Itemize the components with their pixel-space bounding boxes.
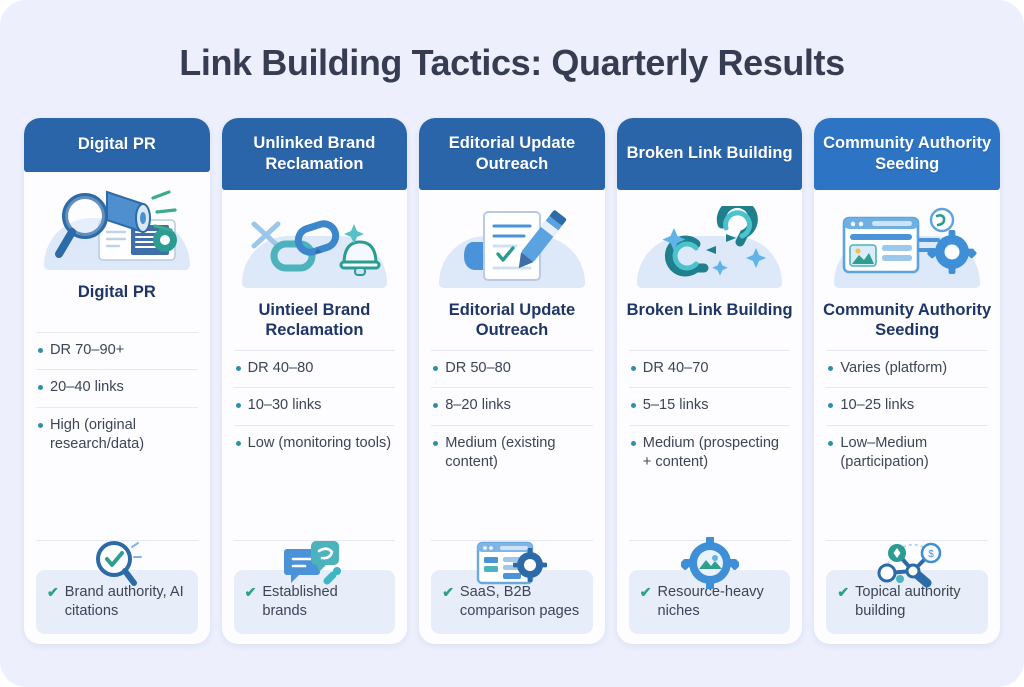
card-header: Community Authority Seeding [814,118,1000,190]
spec-list: DR 70–90+ 20–40 links High (original res… [36,332,198,463]
card-title: Broken Link Building [617,288,803,342]
card-footer: ✔ Resource-heavy niches [617,540,803,644]
broken-link-sparkle-icon [644,206,776,288]
spec-text: Low–Medium (participation) [840,434,986,473]
spec-item: 5–15 links [629,387,791,424]
bullet-icon [433,441,438,446]
spec-item: Low (monitoring tools) [234,425,396,462]
spec-item: DR 70–90+ [36,332,198,369]
card-header: Digital PR [24,118,210,172]
spec-item: DR 40–70 [629,350,791,387]
bullet-icon [828,441,833,446]
spec-text: Medium (existing content) [445,434,591,473]
document-pencil-icon [450,206,574,288]
card-illustration [824,196,990,288]
spec-item: Varies (platform) [826,350,988,387]
bullet-icon [433,366,438,371]
spec-text: Medium (prospecting + content) [643,434,789,473]
bullet-icon [38,423,43,428]
card-footer: $ ✔ Topical authority building [814,540,1000,644]
bullet-icon [236,403,241,408]
megaphone-magnifier-icon [47,184,187,270]
spec-text: DR 40–80 [248,359,314,378]
card-illustration [429,196,595,288]
spec-list: Varies (platform) 10–25 links Low–Medium… [826,350,988,481]
spec-item: 10–30 links [234,387,396,424]
card-title: Uintieel Brand Reclamation [222,288,408,342]
spec-text: 10–30 links [248,396,322,415]
card-title: Editorial Update Outreach [419,288,605,342]
tactic-card-unlinked-brand-reclamation[interactable]: Unlinked Brand Reclamation [222,118,408,644]
bullet-icon [828,366,833,371]
spec-text: 8–20 links [445,396,511,415]
card-title: Community Authority Seeding [814,288,1000,342]
spec-item: High (original research/data) [36,407,198,464]
infographic-page: Link Building Tactics: Quarterly Results… [0,0,1024,687]
footer-illustration [431,540,593,596]
spec-list: DR 40–80 10–30 links Low (monitoring too… [234,350,396,462]
spec-item: 8–20 links [431,387,593,424]
spec-list: DR 50–80 8–20 links Medium (existing con… [431,350,593,481]
bullet-icon [38,348,43,353]
bullet-icon [236,441,241,446]
spec-item: Medium (existing content) [431,425,593,482]
page-title: Link Building Tactics: Quarterly Results [0,42,1024,84]
spec-text: 5–15 links [643,396,709,415]
footer-illustration: $ [826,540,988,596]
tactic-card-digital-pr[interactable]: Digital PR [24,118,210,644]
footer-illustration [234,540,396,596]
card-footer: ✔ Established brands [222,540,408,644]
spec-text: Low (monitoring tools) [248,434,392,453]
network-nodes-icon: $ [869,537,945,594]
spec-item: 20–40 links [36,369,198,406]
spec-item: Low–Medium (participation) [826,425,988,482]
spec-text: DR 40–70 [643,359,709,378]
gear-image-icon [681,537,739,594]
card-header: Unlinked Brand Reclamation [222,118,408,190]
card-illustration [34,178,200,270]
spec-text: DR 50–80 [445,359,511,378]
card-title: Digital PR [24,270,210,324]
spec-text: High (original research/data) [50,416,196,455]
card-footer: ✔ Brand authority, AI citations [24,540,210,644]
broken-chain-bell-icon [244,206,384,288]
card-header: Editorial Update Outreach [419,118,605,190]
svg-text:$: $ [928,549,934,560]
card-illustration [232,196,398,288]
browser-quote-gear-icon [836,206,978,288]
chat-bubbles-icon [281,539,347,594]
spec-text: 20–40 links [50,378,124,397]
spec-item: DR 50–80 [431,350,593,387]
card-footer: ✔ SaaS, B2B comparison pages [419,540,605,644]
bullet-icon [631,366,636,371]
bullet-icon [38,385,43,390]
spec-text: Varies (platform) [840,359,947,378]
tactic-card-community-authority-seeding[interactable]: Community Authority Seeding [814,118,1000,644]
bullet-icon [828,403,833,408]
tactic-card-broken-link-building[interactable]: Broken Link Building [617,118,803,644]
footer-illustration [629,540,791,596]
card-illustration [627,196,793,288]
card-header: Broken Link Building [617,118,803,190]
bullet-icon [236,366,241,371]
spec-item: 10–25 links [826,387,988,424]
bullet-icon [631,403,636,408]
spec-text: DR 70–90+ [50,341,124,360]
browser-gear-icon [474,539,550,594]
tactic-card-row: Digital PR [24,118,1000,644]
spec-text: 10–25 links [840,396,914,415]
tactic-card-editorial-update-outreach[interactable]: Editorial Update Outreach [419,118,605,644]
spec-item: DR 40–80 [234,350,396,387]
spec-item: Medium (prospecting + content) [629,425,791,482]
magnifier-check-icon [86,537,148,594]
footer-illustration [36,540,198,596]
bullet-icon [433,403,438,408]
spec-list: DR 40–70 5–15 links Medium (prospecting … [629,350,791,481]
bullet-icon [631,441,636,446]
